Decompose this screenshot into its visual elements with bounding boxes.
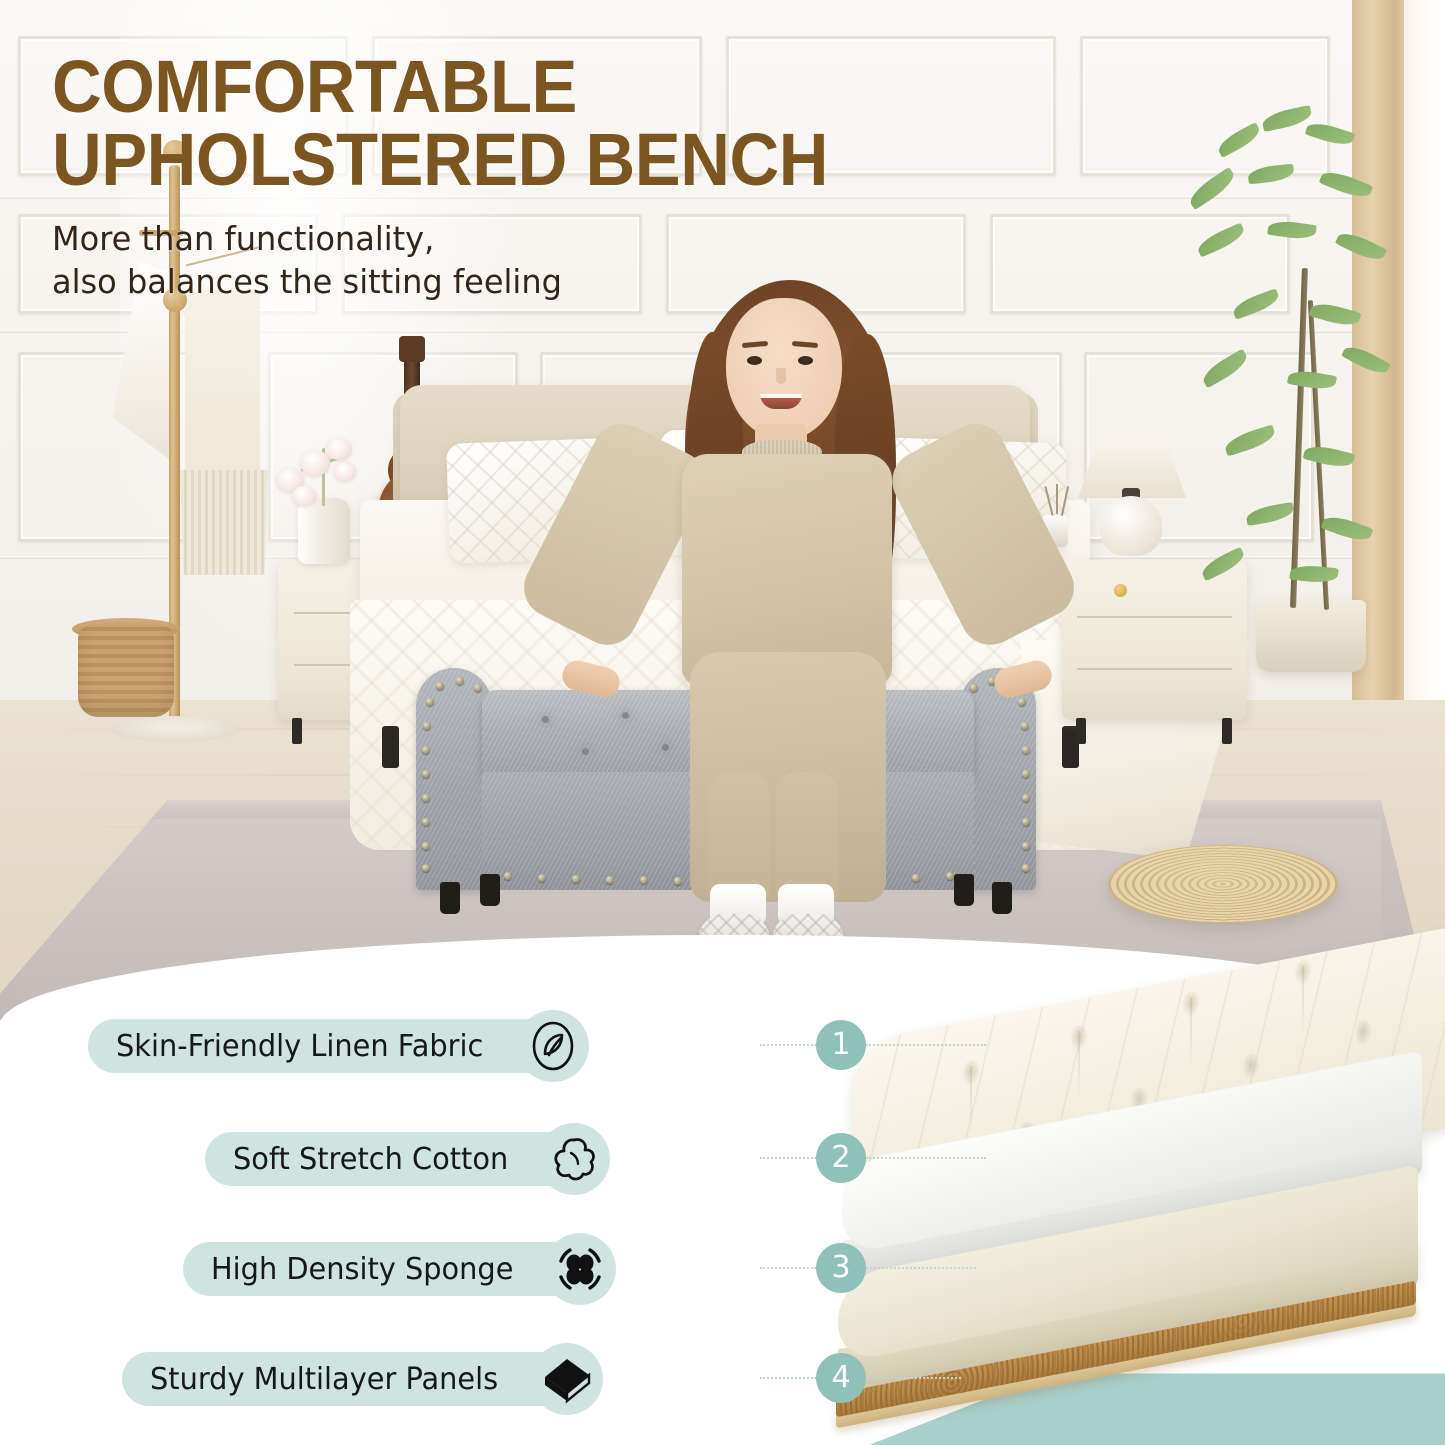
- feature-pill-3[interactable]: High Density Sponge: [183, 1242, 590, 1296]
- model-hand-right: [991, 657, 1055, 700]
- subheadline: More than functionality, also balances t…: [52, 217, 1022, 304]
- feature-label-3: High Density Sponge: [211, 1252, 513, 1287]
- number-badge-4-value: 4: [831, 1363, 850, 1393]
- feature-pill-2[interactable]: Soft Stretch Cotton: [205, 1132, 584, 1186]
- headline-line-1: COMFORTABLE: [52, 45, 577, 128]
- number-badge-2-value: 2: [831, 1143, 850, 1173]
- connector-line-2b: [866, 1157, 986, 1159]
- bench-arm-left: [416, 668, 492, 890]
- feature-label-4: Sturdy Multilayer Panels: [150, 1362, 498, 1397]
- cotton-boll-icon: [538, 1123, 610, 1195]
- feature-row-4: Sturdy Multilayer Panels: [122, 1343, 577, 1415]
- headline: COMFORTABLE UPHOLSTERED BENCH: [52, 50, 982, 197]
- connector-line-3: [760, 1267, 816, 1269]
- leaf-icon: [517, 1010, 589, 1082]
- number-badge-3-value: 3: [831, 1253, 850, 1283]
- connector-line-3b: [866, 1267, 976, 1269]
- ceramic-vase: [298, 498, 350, 564]
- feature-row-3: High Density Sponge: [183, 1233, 590, 1305]
- connector-line-4: [760, 1377, 816, 1379]
- connector-line-4b: [866, 1377, 961, 1379]
- feature-pill-1[interactable]: Skin-Friendly Linen Fabric: [88, 1019, 563, 1073]
- connector-line-2: [760, 1157, 816, 1159]
- model-person: [590, 272, 1050, 952]
- macrame-wall-hanging: [185, 290, 260, 475]
- feature-pill-4[interactable]: Sturdy Multilayer Panels: [122, 1352, 577, 1406]
- number-badge-1-value: 1: [831, 1030, 850, 1060]
- feature-label-1: Skin-Friendly Linen Fabric: [116, 1029, 483, 1064]
- panel-board-icon: [531, 1343, 603, 1415]
- number-badge-4: 4: [816, 1353, 866, 1403]
- woven-basket: [78, 625, 174, 717]
- potted-plant: [1256, 600, 1366, 672]
- number-badge-3: 3: [816, 1243, 866, 1293]
- title-block: COMFORTABLE UPHOLSTERED BENCH More than …: [52, 50, 1052, 304]
- feature-row-1: Skin-Friendly Linen Fabric: [88, 1010, 563, 1082]
- connector-line-1: [760, 1044, 816, 1046]
- curtain-sheer-white: [1404, 0, 1445, 760]
- connector-line-1b: [866, 1044, 986, 1046]
- subheadline-line-1: More than functionality,: [52, 217, 1022, 261]
- feature-row-2: Soft Stretch Cotton: [205, 1123, 584, 1195]
- number-badge-1: 1: [816, 1020, 866, 1070]
- sponge-cells-icon: [544, 1233, 616, 1305]
- woven-floor-cushion: [1108, 845, 1338, 923]
- feature-label-2: Soft Stretch Cotton: [233, 1142, 508, 1177]
- nightstand-right: [1062, 560, 1247, 720]
- headline-line-2: UPHOLSTERED BENCH: [52, 123, 982, 196]
- number-badge-2: 2: [816, 1133, 866, 1183]
- feature-list: Skin-Friendly Linen Fabric Soft Stretch …: [0, 1000, 1445, 1445]
- infographic-canvas: COMFORTABLE UPHOLSTERED BENCH More than …: [0, 0, 1445, 1445]
- subheadline-line-2: also balances the sitting feeling: [52, 260, 1022, 304]
